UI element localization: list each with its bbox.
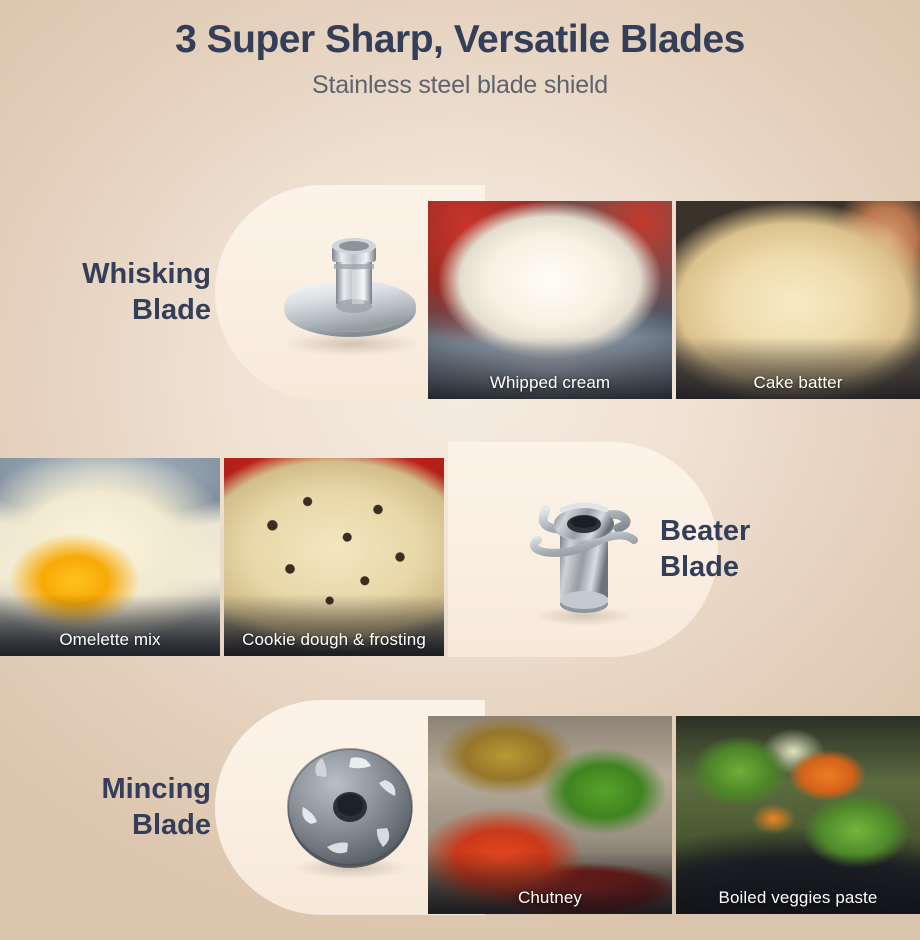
blade-row-beater: Omelette mix Cookie dough & frosting xyxy=(0,442,920,657)
photo-caption: Chutney xyxy=(518,888,582,908)
blade-label-mincing: Mincing Blade xyxy=(36,700,211,915)
caption-overlay: Whipped cream xyxy=(428,337,672,399)
mincing-blade-icon xyxy=(265,728,435,888)
page-title: 3 Super Sharp, Versatile Blades xyxy=(0,0,920,62)
photo-caption: Cake batter xyxy=(754,373,843,393)
photo-caption: Boiled veggies paste xyxy=(719,888,878,908)
caption-overlay: Boiled veggies paste xyxy=(676,852,920,914)
blade-row-whisking: Whisking Blade xyxy=(0,185,920,400)
blade-label-beater: Beater Blade xyxy=(660,442,860,657)
photo-whipped-cream: Whipped cream xyxy=(428,201,672,399)
blade-label-line1: Beater xyxy=(660,514,750,549)
header: 3 Super Sharp, Versatile Blades Stainles… xyxy=(0,0,920,100)
infographic-page: 3 Super Sharp, Versatile Blades Stainles… xyxy=(0,0,920,940)
caption-overlay: Cookie dough & frosting xyxy=(224,594,444,656)
blade-row-mincing: Mincing Blade xyxy=(0,700,920,915)
photo-chutney: Chutney xyxy=(428,716,672,914)
photo-caption: Whipped cream xyxy=(490,373,610,393)
caption-overlay: Omelette mix xyxy=(0,594,220,656)
photo-cake-batter: Cake batter xyxy=(676,201,920,399)
photo-caption: Omelette mix xyxy=(59,630,160,650)
caption-overlay: Chutney xyxy=(428,852,672,914)
photo-caption: Cookie dough & frosting xyxy=(242,630,426,650)
blade-label-line2: Blade xyxy=(660,550,739,585)
blade-label-whisking: Whisking Blade xyxy=(36,185,211,400)
photo-strip-beater: Omelette mix Cookie dough & frosting xyxy=(0,458,444,656)
beater-blade-icon xyxy=(498,470,668,630)
whisking-blade-icon xyxy=(260,218,440,368)
blade-label-line1: Mincing xyxy=(101,772,211,807)
blade-label-line2: Blade xyxy=(132,808,211,843)
photo-cookie-dough: Cookie dough & frosting xyxy=(224,458,444,656)
blade-label-line2: Blade xyxy=(132,293,211,328)
photo-strip-mincing: Chutney Boiled veggies paste xyxy=(428,716,920,914)
caption-overlay: Cake batter xyxy=(676,337,920,399)
page-subtitle: Stainless steel blade shield xyxy=(0,62,920,100)
blade-label-line1: Whisking xyxy=(82,257,211,292)
photo-strip-whisking: Whipped cream Cake batter xyxy=(428,201,920,399)
photo-boiled-veggies: Boiled veggies paste xyxy=(676,716,920,914)
photo-omelette-mix: Omelette mix xyxy=(0,458,220,656)
